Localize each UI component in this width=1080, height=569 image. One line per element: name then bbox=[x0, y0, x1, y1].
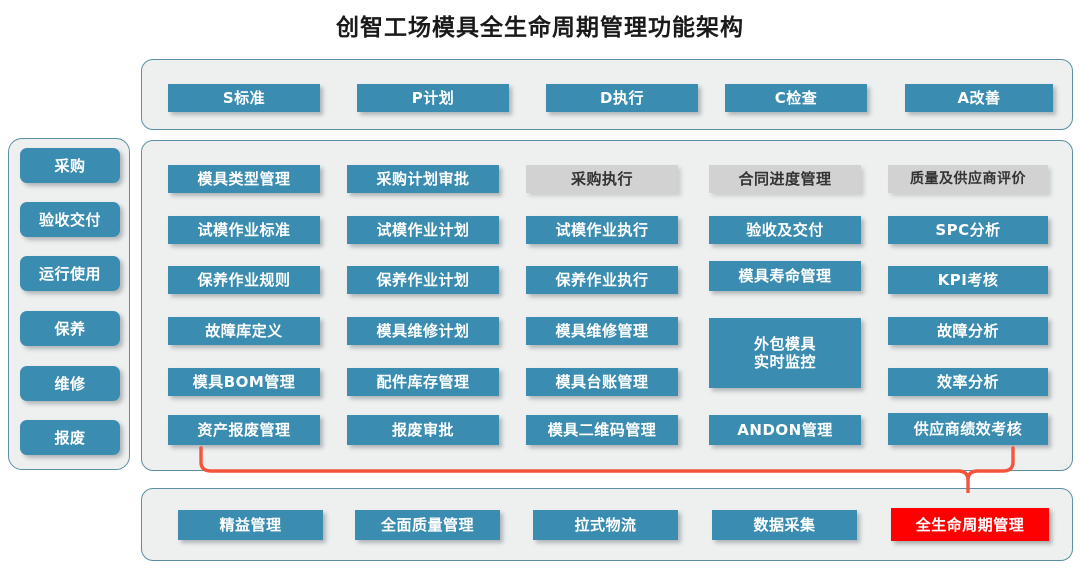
phase-button-1[interactable]: P计划 bbox=[357, 84, 509, 112]
sidebar-item-0[interactable]: 采购 bbox=[20, 148, 120, 183]
matrix-cell-3-0[interactable]: 故障库定义 bbox=[168, 317, 320, 345]
sidebar-item-3[interactable]: 保养 bbox=[20, 311, 120, 346]
matrix-cell-0-1[interactable]: 采购计划审批 bbox=[347, 165, 499, 193]
sidebar-item-1[interactable]: 验收交付 bbox=[20, 202, 120, 237]
phase-button-0[interactable]: S标准 bbox=[168, 84, 320, 112]
foundation-button-3[interactable]: 数据采集 bbox=[712, 510, 857, 540]
matrix-cell-0-2[interactable]: 采购执行 bbox=[526, 165, 678, 193]
phase-button-3[interactable]: C检查 bbox=[725, 84, 867, 112]
matrix-cell-2-1[interactable]: 保养作业计划 bbox=[347, 266, 499, 294]
matrix-cell-2-3[interactable]: 模具寿命管理 bbox=[709, 261, 861, 291]
matrix-cell-1-4[interactable]: SPC分析 bbox=[888, 216, 1048, 244]
foundation-button-2[interactable]: 拉式物流 bbox=[533, 510, 678, 540]
matrix-cell-5-3[interactable]: ANDON管理 bbox=[709, 415, 861, 445]
matrix-cell-2-4[interactable]: KPI考核 bbox=[888, 266, 1048, 294]
matrix-cell-5-0[interactable]: 资产报废管理 bbox=[168, 415, 320, 445]
foundation-button-4[interactable]: 全生命周期管理 bbox=[891, 508, 1049, 541]
matrix-cell-5-2[interactable]: 模具二维码管理 bbox=[526, 415, 678, 445]
foundation-button-0[interactable]: 精益管理 bbox=[178, 510, 323, 540]
matrix-cell-0-4[interactable]: 质量及供应商评价 bbox=[888, 165, 1048, 193]
matrix-cell-4-0[interactable]: 模具BOM管理 bbox=[168, 368, 320, 396]
matrix-cell-2-0[interactable]: 保养作业规则 bbox=[168, 266, 320, 294]
matrix-cell-2-2[interactable]: 保养作业执行 bbox=[526, 266, 678, 294]
sidebar-item-2[interactable]: 运行使用 bbox=[20, 256, 120, 291]
matrix-cell-3-1[interactable]: 模具维修计划 bbox=[347, 317, 499, 345]
matrix-cell-0-0[interactable]: 模具类型管理 bbox=[168, 165, 320, 193]
matrix-cell-0-3[interactable]: 合同进度管理 bbox=[709, 165, 861, 193]
matrix-cell-3-4[interactable]: 故障分析 bbox=[888, 317, 1048, 345]
matrix-cell-4-2[interactable]: 模具台账管理 bbox=[526, 368, 678, 396]
matrix-cell-3-2[interactable]: 模具维修管理 bbox=[526, 317, 678, 345]
matrix-cell-3-3-span[interactable]: 外包模具 实时监控 bbox=[709, 318, 861, 388]
matrix-cell-5-1[interactable]: 报废审批 bbox=[347, 415, 499, 445]
matrix-cell-4-4[interactable]: 效率分析 bbox=[888, 368, 1048, 396]
foundation-button-1[interactable]: 全面质量管理 bbox=[355, 510, 500, 540]
page-title: 创智工场模具全生命周期管理功能架构 bbox=[0, 8, 1080, 42]
matrix-cell-1-3[interactable]: 验收及交付 bbox=[709, 216, 861, 244]
phase-button-2[interactable]: D执行 bbox=[546, 84, 698, 112]
matrix-cell-1-1[interactable]: 试模作业计划 bbox=[347, 216, 499, 244]
matrix-cell-1-2[interactable]: 试模作业执行 bbox=[526, 216, 678, 244]
phase-button-4[interactable]: A改善 bbox=[905, 84, 1053, 112]
matrix-cell-4-1[interactable]: 配件库存管理 bbox=[347, 368, 499, 396]
matrix-cell-1-0[interactable]: 试模作业标准 bbox=[168, 216, 320, 244]
sidebar-item-5[interactable]: 报废 bbox=[20, 420, 120, 455]
matrix-cell-5-4[interactable]: 供应商绩效考核 bbox=[888, 413, 1048, 445]
sidebar-item-4[interactable]: 维修 bbox=[20, 366, 120, 401]
